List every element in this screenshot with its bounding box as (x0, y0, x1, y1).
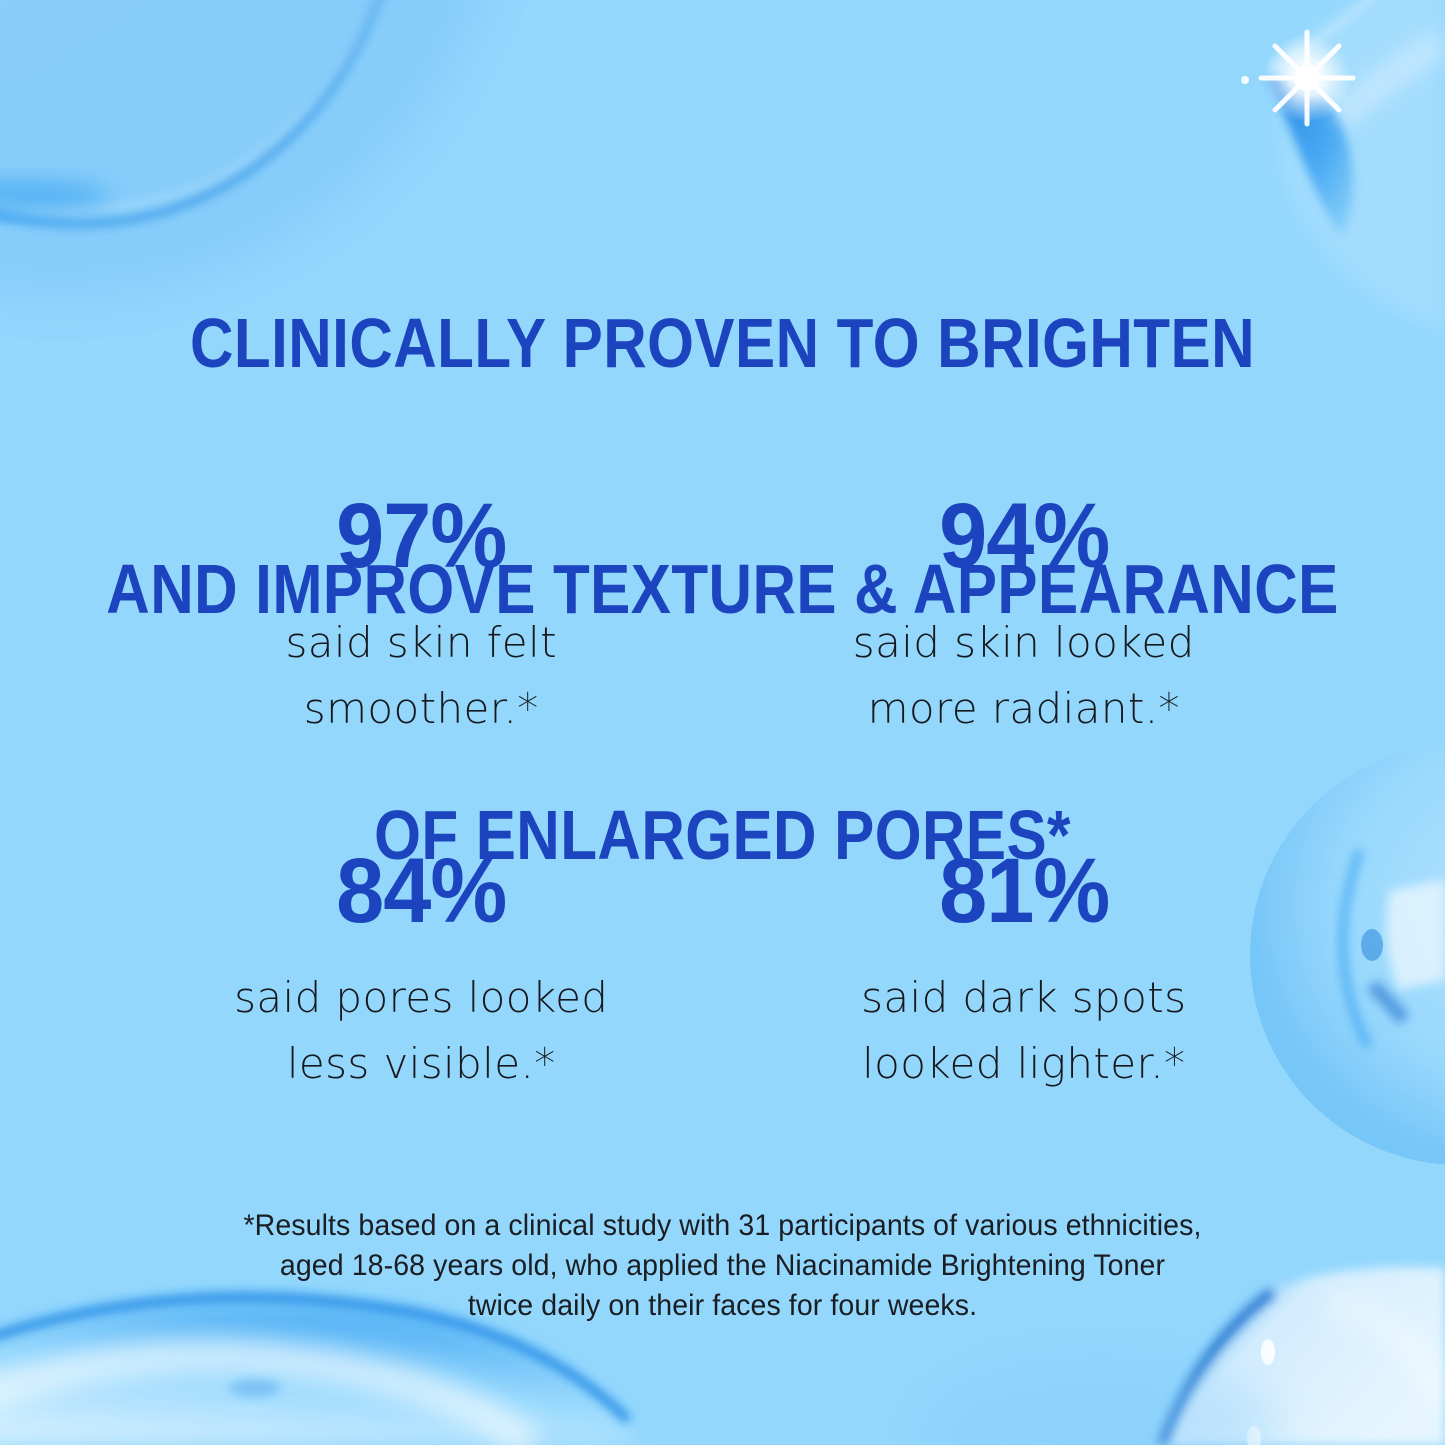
stat-card-dark-spots: 81% said dark spots looked lighter.* (723, 825, 1326, 1180)
footnote-disclaimer: *Results based on a clinical study with … (36, 1206, 1409, 1326)
stat-value-81: 81% (741, 843, 1307, 939)
poster-canvas: CLINICALLY PROVEN TO BRIGHTEN AND IMPROV… (0, 0, 1445, 1445)
stat-caption-radiant: said skin looked more radiant.* (723, 610, 1326, 742)
stats-grid: 97% said skin felt smoother.* 94% said s… (120, 470, 1325, 1180)
stat-card-pores: 84% said pores looked less visible.* (120, 825, 723, 1180)
stat-card-radiant: 94% said skin looked more radiant.* (723, 470, 1326, 825)
stat-caption-dark-spots: said dark spots looked lighter.* (723, 965, 1326, 1097)
stat-caption-pores: said pores looked less visible.* (120, 965, 723, 1097)
headline-line-1: CLINICALLY PROVEN TO BRIGHTEN (101, 302, 1344, 384)
stat-card-smoother: 97% said skin felt smoother.* (120, 470, 723, 825)
poster-content: CLINICALLY PROVEN TO BRIGHTEN AND IMPROV… (0, 0, 1445, 1445)
stat-value-94: 94% (741, 488, 1307, 584)
stat-value-84: 84% (138, 843, 704, 939)
stat-caption-smoother: said skin felt smoother.* (120, 610, 723, 742)
stat-value-97: 97% (138, 488, 704, 584)
